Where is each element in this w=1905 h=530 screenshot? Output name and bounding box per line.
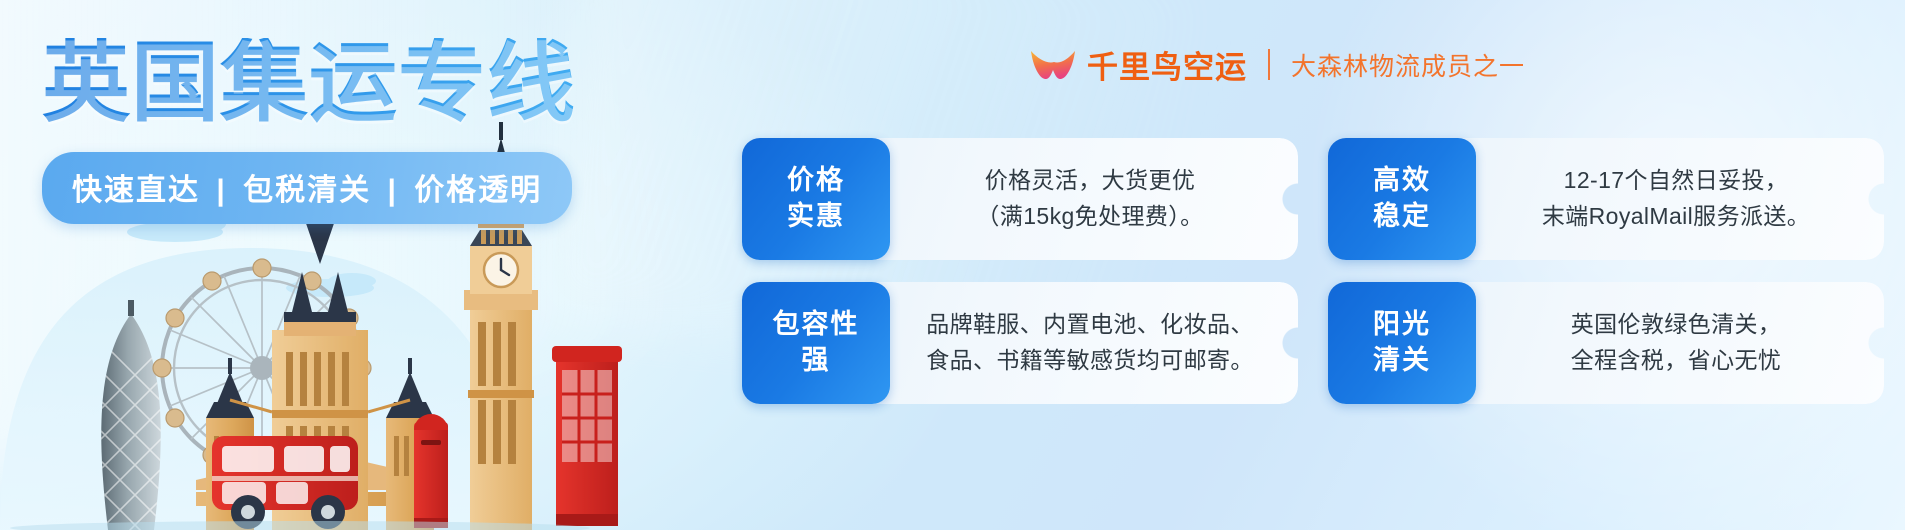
card-text-line2: 末端RoyalMail服务派送。 [1542, 199, 1810, 235]
card-tab-customs: 阳光 清关 [1328, 282, 1476, 404]
card-tab-line1: 高效 [1373, 163, 1431, 199]
card-tab-line1: 阳光 [1373, 307, 1431, 343]
card-text-line2: （满15kg免处理费）。 [976, 199, 1203, 235]
card-tab-line1: 包容性 [773, 307, 860, 343]
card-tab-line2: 清关 [1373, 343, 1431, 379]
card-text-line1: 英国伦敦绿色清关， [1571, 307, 1782, 343]
feature-card-price: 价格 实惠 价格灵活，大货更优 （满15kg免处理费）。 [742, 138, 1298, 260]
feature-badge: 快速直达 | 包税清关 | 价格透明 [42, 152, 572, 224]
card-tab-efficiency: 高效 稳定 [1328, 138, 1476, 260]
badge-separator-1: | [210, 174, 232, 207]
brand-tagline: 大森林物流成员之一 [1291, 47, 1525, 83]
badge-item-3: 价格透明 [414, 174, 542, 207]
brand-name: 千里鸟空运 [1087, 42, 1247, 87]
badge-separator-2: | [381, 174, 403, 207]
card-tab-line2: 稳定 [1373, 199, 1431, 235]
card-tab-line1: 价格 [787, 163, 845, 199]
promo-banner: 英国集运专线 快速直达 | 包税清关 | 价格透明 千里鸟空运 大森林物流成员之… [0, 0, 1905, 530]
feature-card-customs: 阳光 清关 英国伦敦绿色清关， 全程含税，省心无忧 [1328, 282, 1884, 404]
brand-row: 千里鸟空运 大森林物流成员之一 [1030, 42, 1525, 87]
card-text-line2: 全程含税，省心无忧 [1571, 343, 1782, 379]
card-tab-line2: 实惠 [787, 199, 845, 235]
card-text-line2: 食品、书籍等敏感货均可邮寄。 [926, 343, 1254, 379]
feature-card-efficiency: 高效 稳定 12-17个自然日妥投， 末端RoyalMail服务派送。 [1328, 138, 1884, 260]
card-text-inclusiveness: 品牌鞋服、内置电池、化妆品、 食品、书籍等敏感货均可邮寄。 [890, 282, 1298, 404]
red-telephone-box [552, 346, 622, 526]
card-text-efficiency: 12-17个自然日妥投， 末端RoyalMail服务派送。 [1476, 138, 1884, 260]
card-text-line1: 12-17个自然日妥投， [1564, 163, 1789, 199]
page-title: 英国集运专线 [42, 38, 642, 128]
card-tab-line2: 强 [802, 343, 831, 379]
card-tab-price: 价格 实惠 [742, 138, 890, 260]
feature-card-grid: 价格 实惠 价格灵活，大货更优 （满15kg免处理费）。 高效 稳定 12-17… [742, 138, 1884, 404]
brand-divider [1268, 49, 1270, 80]
card-text-customs: 英国伦敦绿色清关， 全程含税，省心无忧 [1476, 282, 1884, 404]
feature-card-inclusiveness: 包容性 强 品牌鞋服、内置电池、化妆品、 食品、书籍等敏感货均可邮寄。 [742, 282, 1298, 404]
headline-block: 英国集运专线 快速直达 | 包税清关 | 价格透明 [42, 38, 642, 224]
card-text-price: 价格灵活，大货更优 （满15kg免处理费）。 [890, 138, 1298, 260]
badge-item-2: 包税清关 [243, 174, 371, 207]
bird-wings-mark [1030, 48, 1076, 82]
card-tab-inclusiveness: 包容性 强 [742, 282, 890, 404]
red-post-box [414, 414, 448, 528]
badge-item-1: 快速直达 [72, 174, 200, 207]
card-text-line1: 价格灵活，大货更优 [985, 163, 1196, 199]
card-text-line1: 品牌鞋服、内置电池、化妆品、 [926, 307, 1254, 343]
